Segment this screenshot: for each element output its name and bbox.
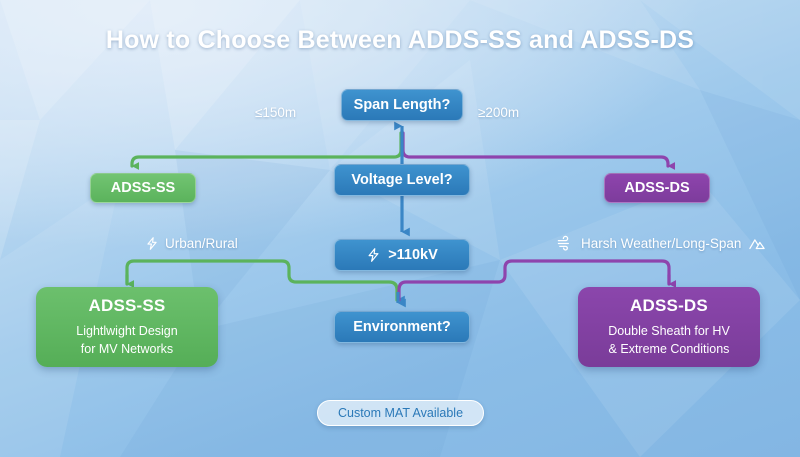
pill-adss-ss-label: ADSS-SS (111, 180, 175, 196)
pill-adss-ds[interactable]: ADSS-DS (604, 173, 710, 203)
result-card-adss-ss-line1: Lightlwight Design (76, 323, 177, 340)
result-card-adss-ss-line2: for MV Networks (76, 341, 177, 358)
wind-icon (556, 235, 575, 252)
edge-span-to-adss-ss (132, 133, 401, 166)
node-voltage-level[interactable]: Voltage Level? (334, 164, 470, 196)
custom-mat-badge[interactable]: Custom MAT Available (317, 400, 484, 426)
edge-label-span-short-text: ≤150m (255, 105, 296, 120)
custom-mat-badge-label: Custom MAT Available (338, 406, 463, 420)
node-environment-label: Environment? (353, 319, 450, 335)
edge-label-urban-rural: Urban/Rural (145, 235, 238, 252)
edge-label-span-long: ≥200m (478, 105, 519, 120)
node-span-length[interactable]: Span Length? (341, 89, 463, 121)
result-card-adss-ds[interactable]: ADSS-DS Double Sheath for HV & Extreme C… (578, 287, 760, 367)
edge-label-harsh-weather: Harsh Weather/Long-Span (556, 235, 767, 252)
node-kv-threshold-label: >110kV (388, 247, 438, 263)
node-environment[interactable]: Environment? (334, 311, 470, 343)
edge-label-harsh-weather-text: Harsh Weather/Long-Span (581, 236, 741, 251)
node-span-length-label: Span Length? (354, 97, 451, 113)
result-card-adss-ds-line2: & Extreme Conditions (608, 341, 730, 358)
node-kv-threshold[interactable]: >110kV (334, 239, 470, 271)
pill-adss-ss[interactable]: ADSS-SS (90, 173, 196, 203)
bolt-icon (366, 246, 381, 264)
mountains-icon (747, 235, 767, 252)
pill-adss-ds-label: ADSS-DS (624, 180, 689, 196)
connector-lines (0, 0, 800, 457)
result-card-adss-ss[interactable]: ADSS-SS Lightlwight Design for MV Networ… (36, 287, 218, 367)
edge-label-span-short: ≤150m (255, 105, 296, 120)
edge-label-span-long-text: ≥200m (478, 105, 519, 120)
node-voltage-level-label: Voltage Level? (351, 172, 452, 188)
edge-label-urban-rural-text: Urban/Rural (165, 236, 238, 251)
bolt-icon (145, 235, 159, 252)
result-card-adss-ss-title: ADSS-SS (89, 296, 166, 316)
infographic-canvas: How to Choose Between ADDS-SS and ADSS-D… (0, 0, 800, 457)
result-card-adss-ds-title: ADSS-DS (630, 296, 708, 316)
edge-span-to-adss-ds (403, 133, 668, 166)
result-card-adss-ds-line1: Double Sheath for HV (608, 323, 730, 340)
